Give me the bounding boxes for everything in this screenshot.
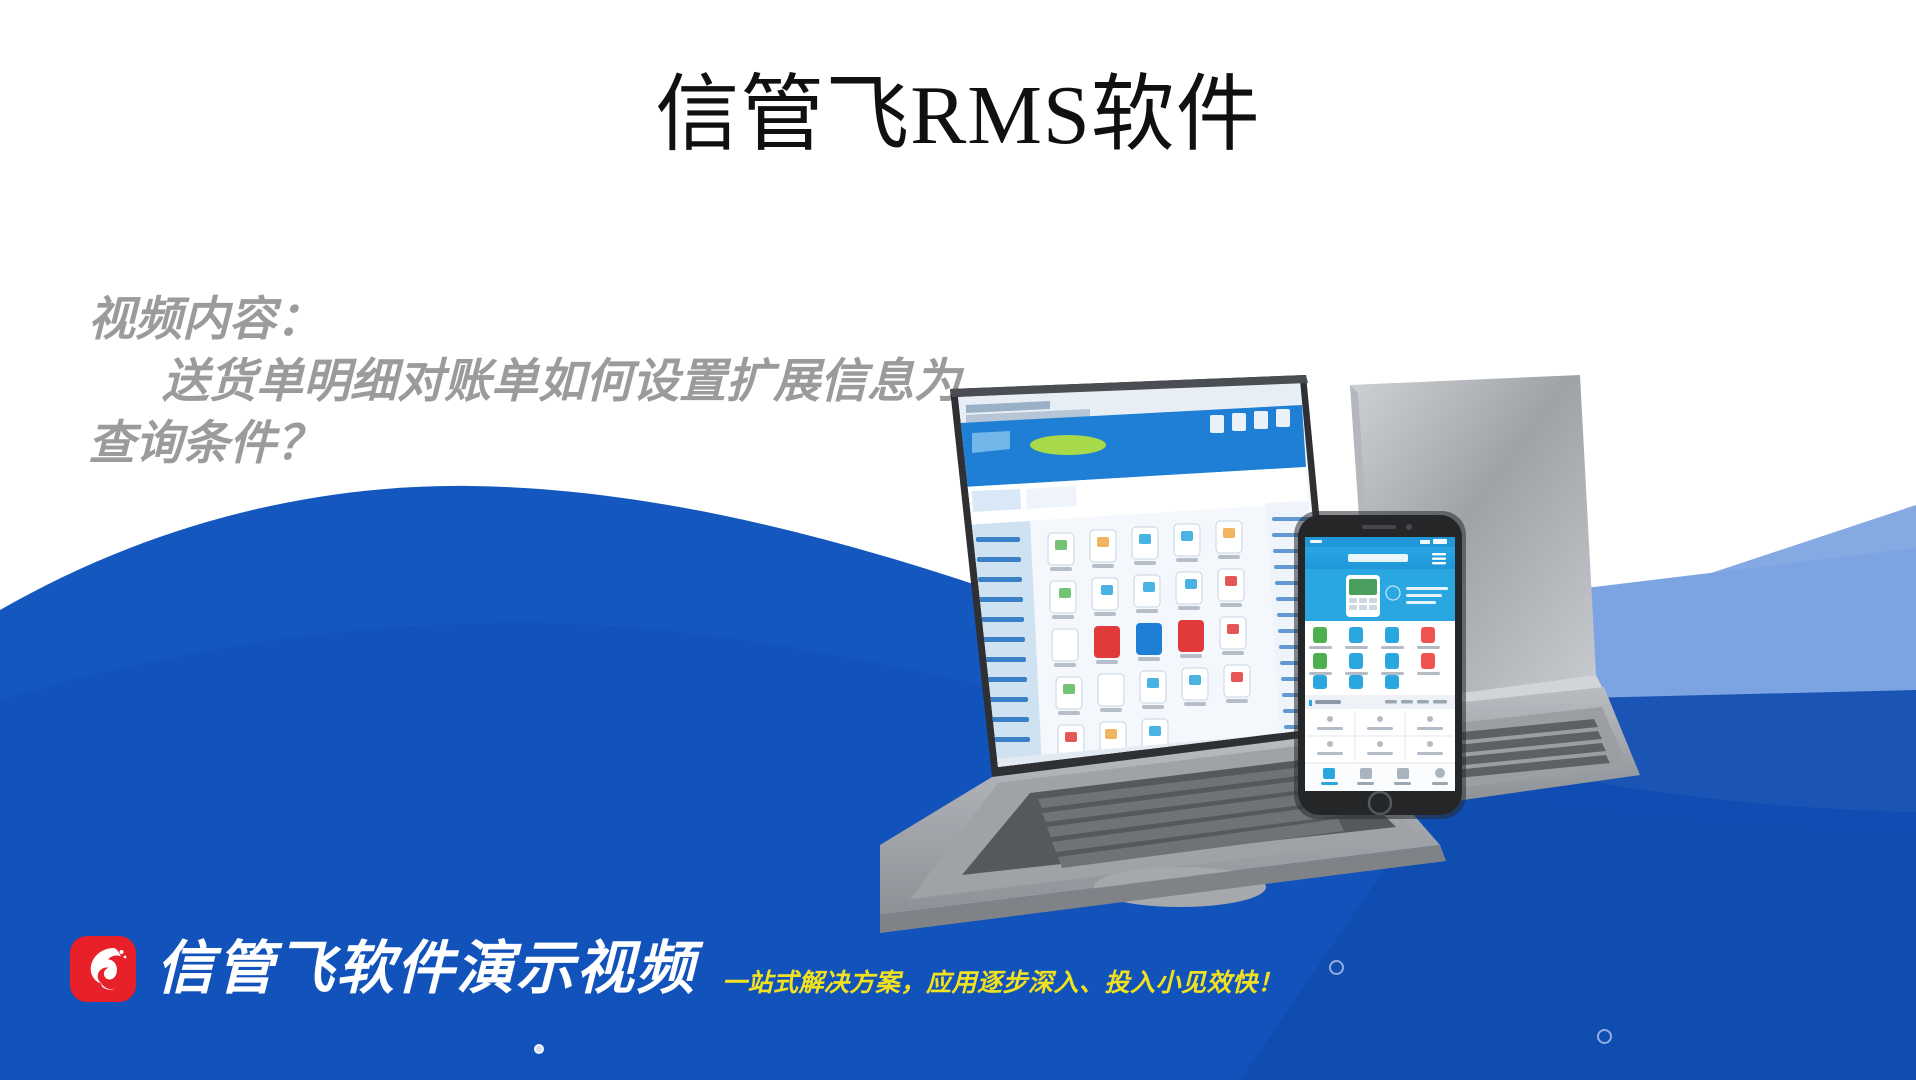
- brand-title: 信管飞软件演示视频: [156, 940, 696, 998]
- decor-dot-3: [1597, 1029, 1612, 1044]
- page-title: 信管飞RMS软件: [0, 70, 1916, 162]
- decor-dot-1: [534, 1044, 544, 1054]
- presentation-slide: 信管飞RMS软件 视频内容： 送货单明细对账单如何设置扩展信息为 查询条件？: [0, 0, 1916, 1080]
- device-mockup-svg: [880, 375, 1916, 935]
- smartphone: [1294, 511, 1466, 819]
- decor-dot-2: [1329, 960, 1344, 975]
- phone-app-screen: [1305, 537, 1455, 791]
- brand-tagline: 一站式解决方案，应用逐步深入、投入小见效快！: [722, 963, 1283, 1008]
- video-content-label: 视频内容：: [88, 288, 1088, 350]
- hamburger-menu-icon: [1432, 553, 1446, 564]
- xinguanfei-bird-logo-icon: [70, 936, 136, 1002]
- device-mockup-group: [880, 375, 1916, 935]
- footer-brand-bar: 信管飞软件演示视频 一站式解决方案，应用逐步深入、投入小见效快！: [70, 930, 1283, 1008]
